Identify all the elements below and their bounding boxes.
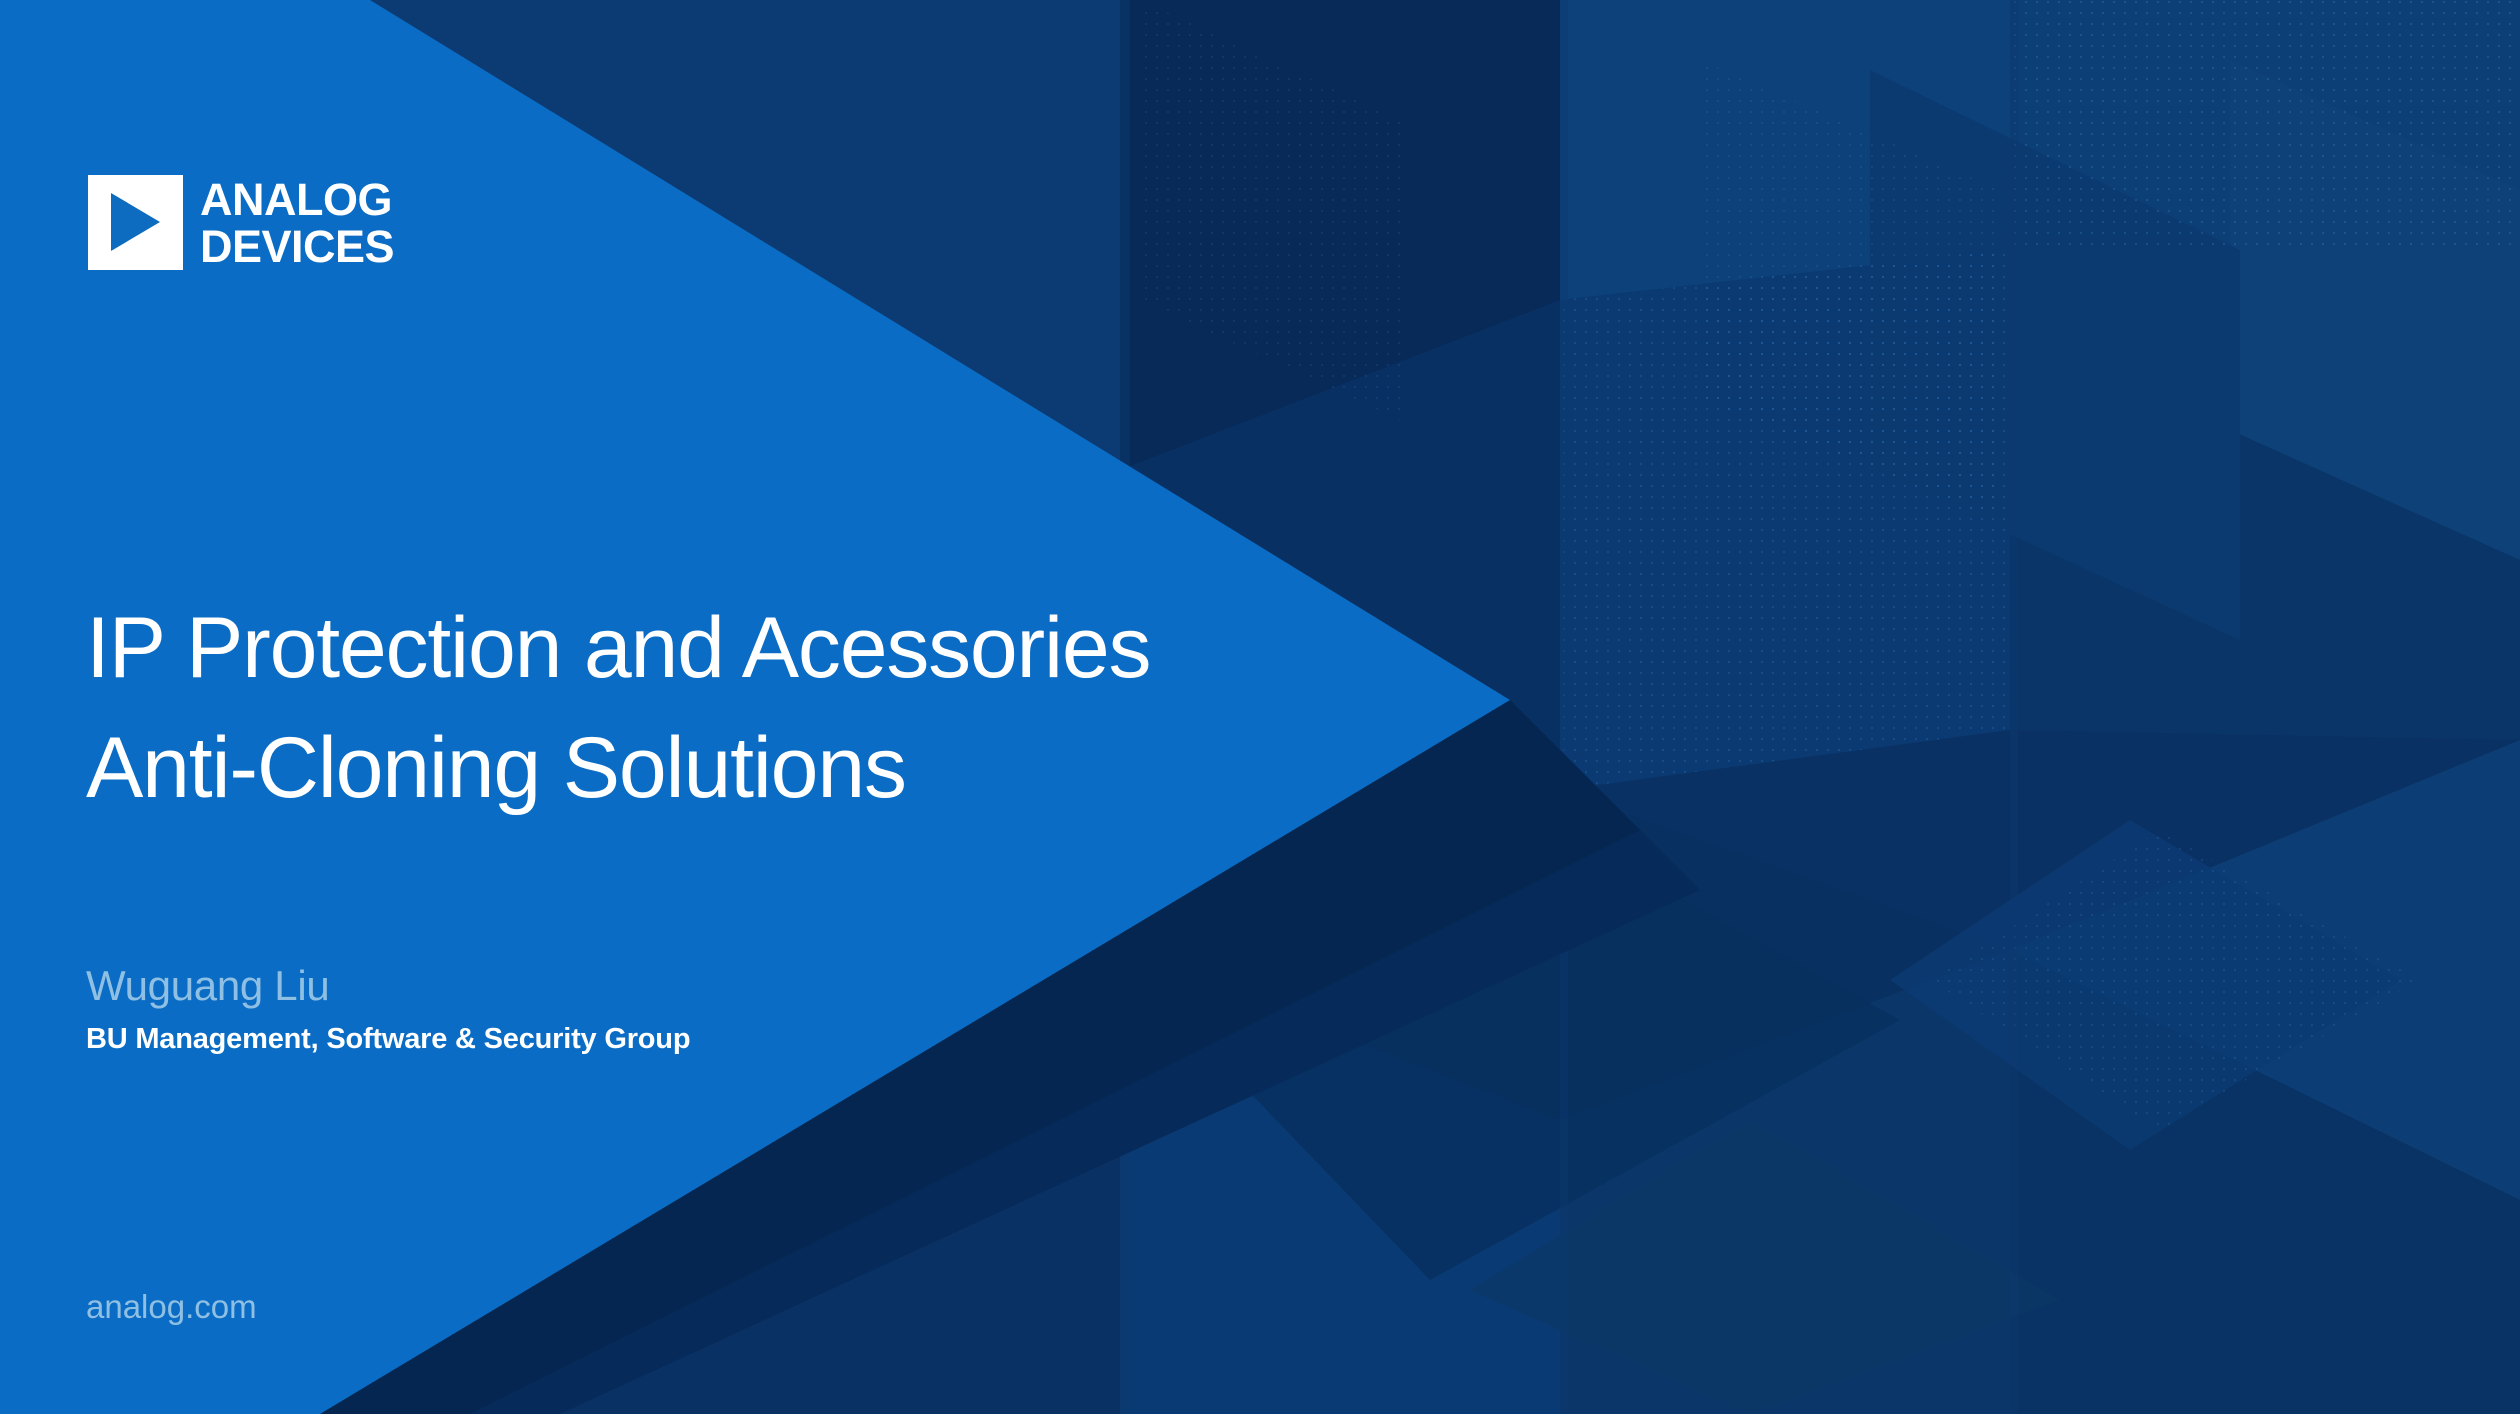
title-line-1: IP Protection and Acessories <box>86 588 1606 708</box>
logo-line-analog: ANALOG <box>200 176 394 223</box>
footer-website-url[interactable]: analog.com <box>86 1288 257 1326</box>
analog-devices-triangle-icon <box>88 175 183 270</box>
title-slide: ANALOG DEVICES IP Protection and Acessor… <box>0 0 2520 1414</box>
logo-wordmark: ANALOG DEVICES <box>200 175 394 270</box>
presenter-info: Wuguang Liu BU Management, Software & Se… <box>86 960 690 1060</box>
presenter-name: Wuguang Liu <box>86 960 690 1012</box>
page-title: IP Protection and Acessories Anti-Clonin… <box>86 588 1606 828</box>
slide-content: ANALOG DEVICES IP Protection and Acessor… <box>0 0 2520 1414</box>
presenter-role: BU Management, Software & Security Group <box>86 1018 690 1060</box>
play-triangle-icon <box>111 193 160 251</box>
logo-line-devices: DEVICES <box>200 223 394 270</box>
analog-devices-logo: ANALOG DEVICES <box>88 175 394 270</box>
title-line-2: Anti-Cloning Solutions <box>86 708 1606 828</box>
